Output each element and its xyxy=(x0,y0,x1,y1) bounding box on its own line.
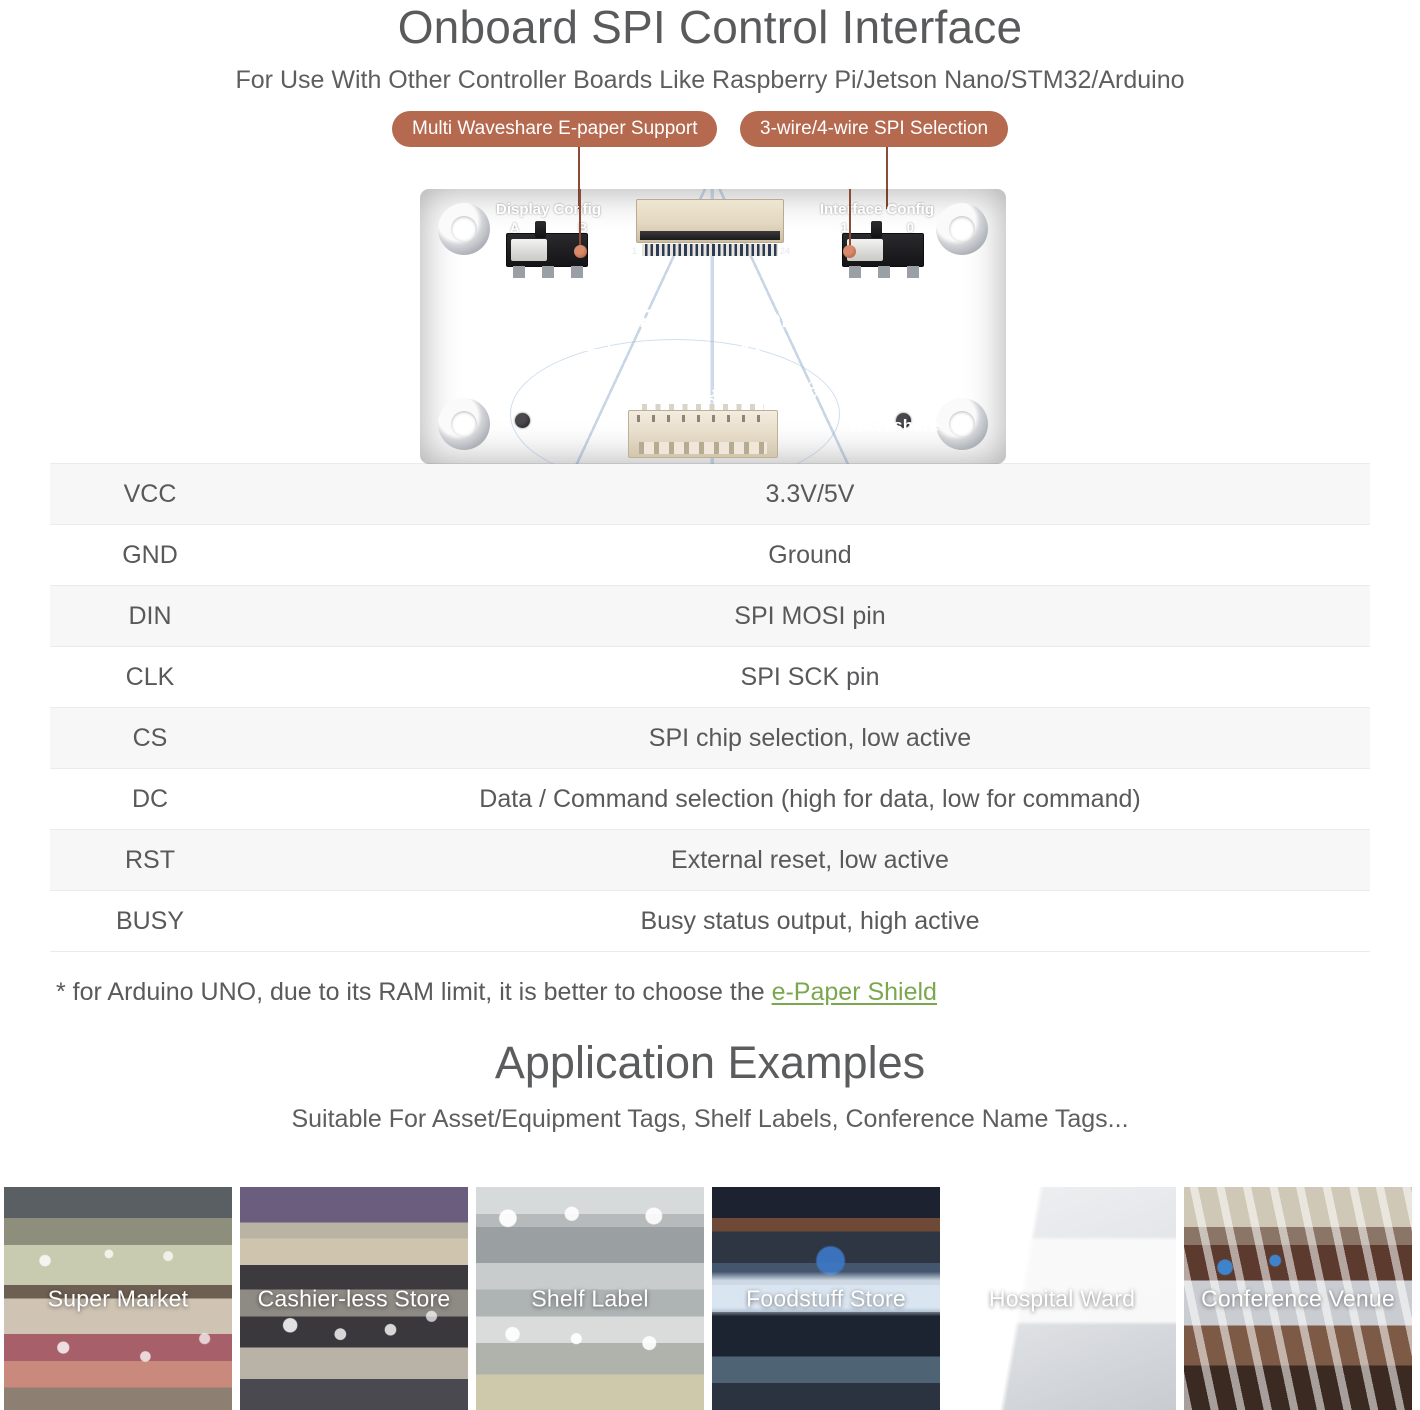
interface-config-label: Interface Config xyxy=(820,201,934,218)
page-title: Onboard SPI Control Interface xyxy=(0,0,1420,50)
pin-label-gnd: GND xyxy=(788,380,800,406)
display-config-silkscreen-table: A 3R B 0.47R xyxy=(499,299,610,351)
gallery-caption: Shelf Label xyxy=(476,1285,704,1312)
display-config-label: Display Config xyxy=(496,201,601,218)
callout-badge-multi-epaper: Multi Waveshare E-paper Support xyxy=(392,111,717,147)
pin-description: SPI chip selection, low active xyxy=(250,708,1370,769)
application-examples-title: Application Examples xyxy=(0,1037,1420,1089)
callout-dot-interface-config xyxy=(843,245,856,258)
pin-label-clk: CLK xyxy=(747,382,759,406)
switch-legs xyxy=(513,266,583,278)
page-subtitle: For Use With Other Controller Boards Lik… xyxy=(0,66,1420,95)
mounting-hole xyxy=(438,203,490,255)
fpc-connector-pins xyxy=(642,244,778,256)
mounting-hole xyxy=(438,398,490,450)
gallery-item-super-market[interactable]: Super Market xyxy=(4,1187,232,1410)
gallery-item-hospital-ward[interactable]: Hospital Ward xyxy=(948,1187,1176,1410)
gallery-caption: Super Market xyxy=(4,1285,232,1312)
display-config-value: 0.47R xyxy=(534,326,608,349)
display-config-value: 3R xyxy=(534,301,608,326)
table-row: CLK SPI SCK pin xyxy=(50,647,1370,708)
application-examples-subtitle: Suitable For Asset/Equipment Tags, Shelf… xyxy=(0,1105,1420,1134)
display-config-key: A xyxy=(501,301,534,326)
pin-label-pwr: PWR xyxy=(645,379,657,406)
pin-description: Busy status output, high active xyxy=(250,891,1370,952)
callout-dot-display-config xyxy=(574,245,587,258)
table-row: VCC 3.3V/5V xyxy=(50,464,1370,525)
footnote-text: * for Arduino UNO, due to its RAM limit,… xyxy=(56,978,772,1006)
pin-label-busy: BUSY xyxy=(665,373,677,406)
callout-pointer-display-config xyxy=(579,189,581,249)
gallery-caption: Foodstuff Store xyxy=(712,1285,940,1312)
gallery-caption: Cashier-less Store xyxy=(240,1285,468,1312)
fpc-pin-number-last: 24 xyxy=(780,246,790,256)
pcb-via xyxy=(515,413,530,428)
table-row: CS SPI chip selection, low active xyxy=(50,708,1370,769)
fpc-connector-24pin xyxy=(636,199,784,243)
pin-label-vcc: VCC xyxy=(808,381,820,406)
pin-name: GND xyxy=(50,525,250,586)
switch-legs xyxy=(849,266,919,278)
switch-nub xyxy=(871,221,882,238)
callout-pointer-interface-config xyxy=(849,189,851,249)
pin-description: 3.3V/5V xyxy=(250,464,1370,525)
board-revision-silkscreen: Rev2.3 xyxy=(713,342,761,359)
display-config-key: B xyxy=(501,326,534,349)
pin-description-table: VCC 3.3V/5V GND Ground DIN SPI MOSI pin … xyxy=(50,463,1370,952)
pin-name: CLK xyxy=(50,647,250,708)
pin-description: Data / Command selection (high for data,… xyxy=(250,769,1370,830)
table-row: GND Ground xyxy=(50,525,1370,586)
pin-name: VCC xyxy=(50,464,250,525)
pin-name: DIN xyxy=(50,586,250,647)
pin-name: CS xyxy=(50,708,250,769)
switch-nub xyxy=(535,221,546,238)
footnote: * for Arduino UNO, due to its RAM limit,… xyxy=(50,978,1370,1007)
pin-label-din: DIN xyxy=(767,386,779,406)
gallery-item-conference-venue[interactable]: Conference Venue xyxy=(1184,1187,1412,1410)
pin-label-rst: RST xyxy=(686,382,698,406)
table-row: DIN SPI MOSI pin xyxy=(50,586,1370,647)
mounting-hole xyxy=(936,203,988,255)
gallery-item-cashier-less-store[interactable]: Cashier-less Store xyxy=(240,1187,468,1410)
pin-name: DC xyxy=(50,769,250,830)
gallery-caption: Conference Venue xyxy=(1184,1285,1412,1312)
pin-description: SPI SCK pin xyxy=(250,647,1370,708)
pin-header-9pin-connector xyxy=(628,410,778,458)
table-row: DC Data / Command selection (high for da… xyxy=(50,769,1370,830)
gallery-item-foodstuff-store[interactable]: Foodstuff Store xyxy=(712,1187,940,1410)
callout-badges: Multi Waveshare E-paper Support 3-wire/4… xyxy=(0,111,1420,173)
gallery-item-shelf-label[interactable]: Shelf Label xyxy=(476,1187,704,1410)
gallery-caption: Hospital Ward xyxy=(948,1285,1176,1312)
epaper-shield-link[interactable]: e-Paper Shield xyxy=(772,978,937,1006)
application-gallery: Super Market Cashier-less Store Shelf La… xyxy=(0,1187,1420,1410)
waveshare-brand-text: Waveshare xyxy=(828,416,960,436)
table-row: RST External reset, low active xyxy=(50,830,1370,891)
pin-description: SPI MOSI pin xyxy=(250,586,1370,647)
product-page: Onboard SPI Control Interface For Use Wi… xyxy=(0,0,1420,1410)
callout-badge-spi-selection: 3-wire/4-wire SPI Selection xyxy=(740,111,1008,147)
waveshare-w-icon xyxy=(850,344,942,408)
pin-description: External reset, low active xyxy=(250,830,1370,891)
table-row: BUSY Busy status output, high active xyxy=(50,891,1370,952)
pin-description: Ground xyxy=(250,525,1370,586)
epaper-driver-hat-pcb: Display Config A B Interface Config 1 0 … xyxy=(420,189,1006,464)
pin-name: RST xyxy=(50,830,250,891)
board-name-silkscreen: e-Paper Driver HAT xyxy=(616,305,849,334)
fpc-pin-number-first: 1 xyxy=(632,246,637,256)
board-photo: Display Config A B Interface Config 1 0 … xyxy=(0,173,1420,463)
pin-header-labels: PWR BUSY RST DC CS CLK DIN GND VCC xyxy=(645,373,820,406)
pin-name: BUSY xyxy=(50,891,250,952)
interface-config-value: 3-line SPI xyxy=(849,301,937,326)
waveshare-logo: R Waveshare xyxy=(828,344,960,436)
registered-trademark-icon: R xyxy=(939,346,956,363)
